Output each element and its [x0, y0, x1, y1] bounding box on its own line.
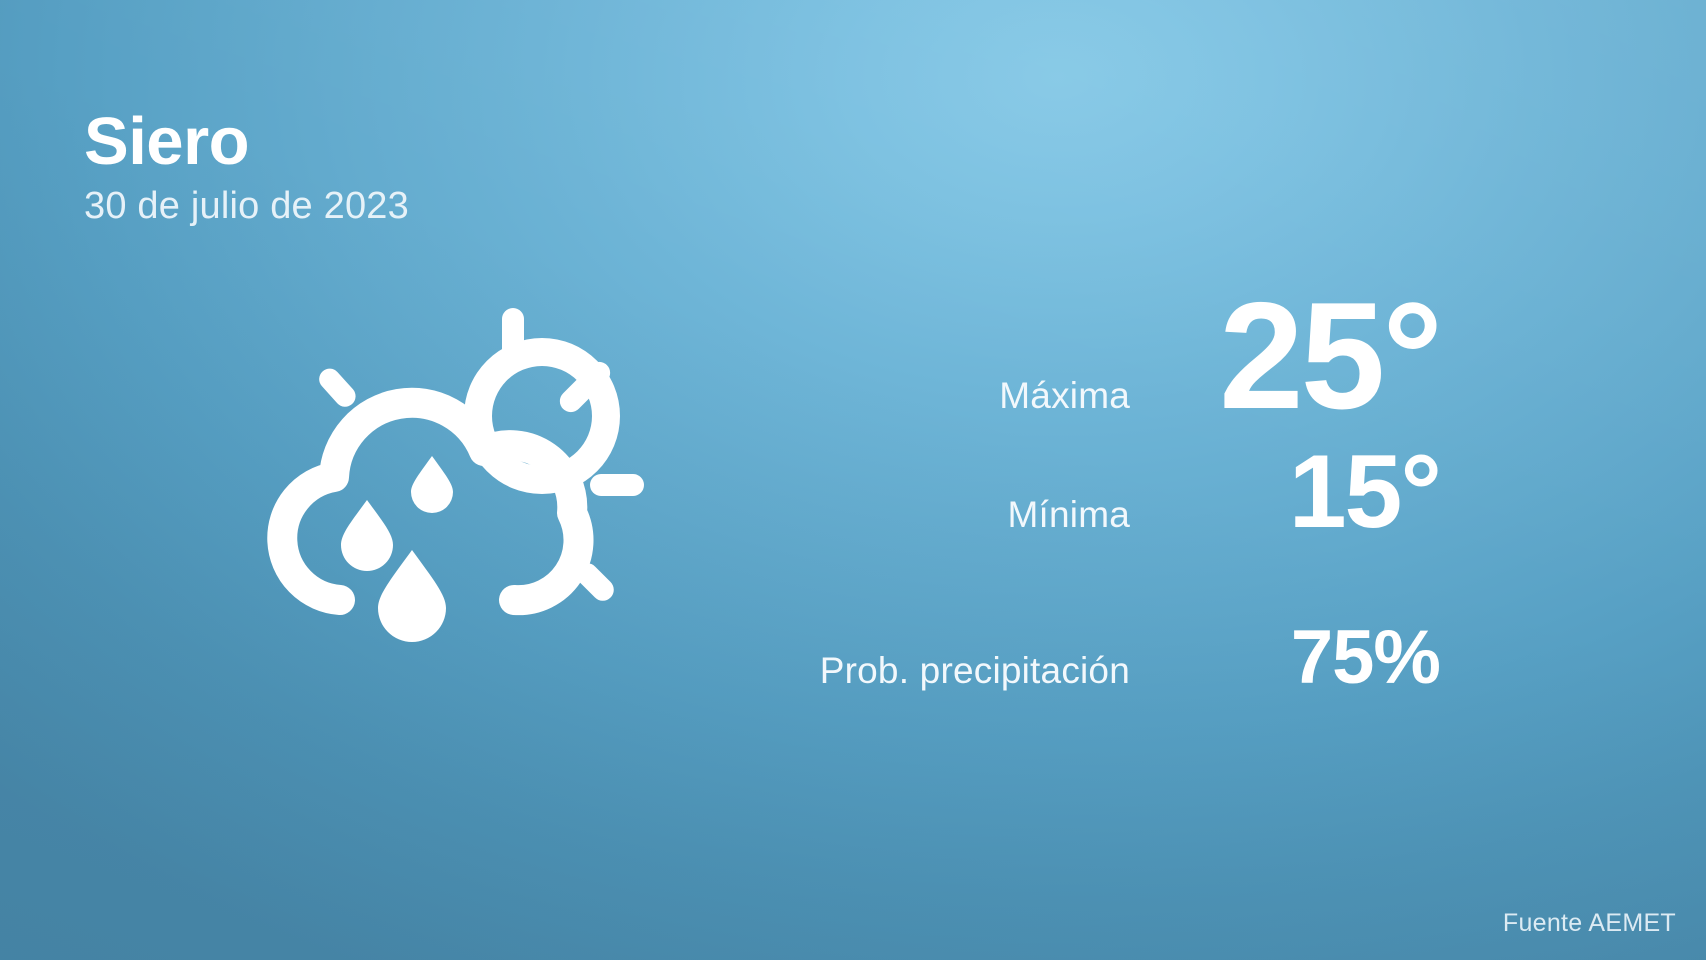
page-title: Siero [84, 108, 409, 175]
header: Siero 30 de julio de 2023 [84, 108, 409, 225]
metric-value-maxima: 25° [1130, 280, 1440, 432]
sun-behind-rain-cloud-icon [232, 288, 652, 648]
metric-label-maxima: Máxima [999, 375, 1130, 431]
forecast-date: 30 de julio de 2023 [84, 187, 409, 225]
metric-label-precipitacion: Prob. precipitación [820, 650, 1130, 700]
raindrop-bottom [378, 550, 446, 642]
metric-row-minima: Mínima 15° [640, 440, 1440, 620]
metric-value-minima: 15° [1130, 440, 1440, 544]
sun-ray-right [590, 474, 644, 496]
raindrop-left [341, 500, 393, 571]
metric-row-maxima: Máxima 25° [640, 280, 1440, 440]
weather-card: Siero 30 de julio de 2023 [0, 0, 1706, 960]
raindrop-middle [411, 456, 453, 513]
metric-value-precipitacion: 75% [1130, 620, 1440, 696]
metrics-panel: Máxima 25° Mínima 15° Prob. precipitació… [640, 280, 1440, 740]
metric-label-minima: Mínima [1008, 494, 1131, 546]
metric-row-precipitacion: Prob. precipitación 75% [640, 620, 1440, 740]
source-attribution: Fuente AEMET [1503, 909, 1676, 938]
sun-ray-top-left [315, 364, 360, 411]
